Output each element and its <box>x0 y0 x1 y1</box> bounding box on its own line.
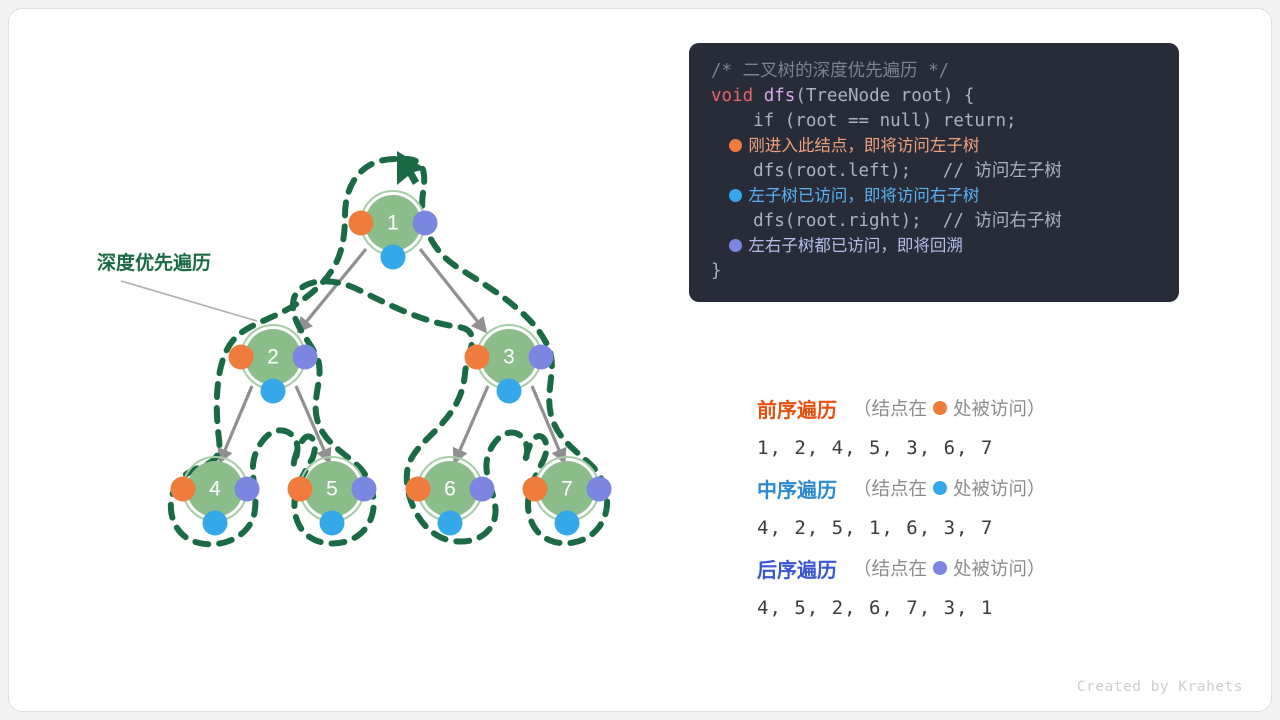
code-annotation-postorder: 左右子树都已访问，即将回溯 <box>711 234 1157 259</box>
inorder-desc-prefix: （结点在 <box>853 475 927 501</box>
tree-nodes: 1 2 3 <box>171 191 612 536</box>
code-annotation-inorder-text: 左子树已访问，即将访问右子树 <box>748 187 979 205</box>
inorder-label: 中序遍历 <box>757 474 837 503</box>
postorder-heading: 后序遍历 （结点在 处被访问） <box>757 551 1177 585</box>
inorder-sequence: 4, 2, 5, 1, 6, 3, 7 <box>757 505 1177 551</box>
code-block: /* 二叉树的深度优先遍历 */ void dfs(TreeNode root)… <box>689 43 1179 302</box>
credit-footer: Created by Krahets <box>1077 679 1243 695</box>
inorder-dot <box>203 511 228 536</box>
inorder-dot <box>497 379 522 404</box>
postorder-dot <box>352 477 377 502</box>
inorder-heading: 中序遍历 （结点在 处被访问） <box>757 471 1177 505</box>
preorder-dot-icon <box>933 401 947 415</box>
traversal-legend: 前序遍历 （结点在 处被访问） 1, 2, 4, 5, 3, 6, 7 中序遍历… <box>757 391 1177 631</box>
postorder-dot-icon <box>933 561 947 575</box>
node-label: 3 <box>503 346 515 369</box>
inorder-desc-suffix: 处被访问） <box>953 475 1046 501</box>
postorder-dot <box>587 477 612 502</box>
preorder-sequence: 1, 2, 4, 5, 3, 6, 7 <box>757 425 1177 471</box>
preorder-dot <box>288 477 313 502</box>
edge-2-5 <box>296 386 327 457</box>
postorder-dot <box>529 345 554 370</box>
inorder-dot-icon <box>933 481 947 495</box>
postorder-dot <box>235 477 260 502</box>
node-label: 4 <box>209 478 221 501</box>
annotation-leader-line <box>121 281 257 321</box>
edge-2-4 <box>222 386 252 457</box>
postorder-description: （结点在 处被访问） <box>853 555 1046 581</box>
inorder-dot <box>261 379 286 404</box>
preorder-dot <box>523 477 548 502</box>
postorder-desc-suffix: 处被访问） <box>953 555 1046 581</box>
tree-node-4[interactable]: 4 <box>171 457 260 536</box>
preorder-dot <box>229 345 254 370</box>
preorder-heading: 前序遍历 （结点在 处被访问） <box>757 391 1177 425</box>
postorder-dot-icon <box>729 239 742 252</box>
preorder-desc-prefix: （结点在 <box>853 395 927 421</box>
code-signature-rest: (TreeNode root) { <box>795 86 974 106</box>
figure-card: 1 2 3 <box>8 8 1272 712</box>
postorder-desc-prefix: （结点在 <box>853 555 927 581</box>
code-keyword-void: void <box>711 86 753 106</box>
inorder-dot <box>555 511 580 536</box>
inorder-dot <box>438 511 463 536</box>
postorder-dot <box>293 345 318 370</box>
preorder-label: 前序遍历 <box>757 394 837 423</box>
code-comment: /* 二叉树的深度优先遍历 */ <box>711 61 949 81</box>
preorder-desc-suffix: 处被访问） <box>953 395 1046 421</box>
node-label: 7 <box>561 478 573 501</box>
code-annotation-preorder: 刚进入此结点，即将访问左子树 <box>711 134 1157 159</box>
inorder-dot <box>381 245 406 270</box>
code-dfs-right: dfs(root.right); // 访问右子树 <box>711 211 1062 231</box>
preorder-dot <box>349 211 374 236</box>
node-label: 2 <box>267 346 279 369</box>
inorder-dot-icon <box>729 189 742 202</box>
postorder-dot <box>413 211 438 236</box>
postorder-label: 后序遍历 <box>757 554 837 583</box>
postorder-sequence: 4, 5, 2, 6, 7, 3, 1 <box>757 585 1177 631</box>
preorder-dot <box>171 477 196 502</box>
tree-node-6[interactable]: 6 <box>406 457 495 536</box>
code-fn-dfs: dfs <box>753 86 795 106</box>
preorder-description: （结点在 处被访问） <box>853 395 1046 421</box>
node-label: 6 <box>444 478 456 501</box>
code-annotation-inorder: 左子树已访问，即将访问右子树 <box>711 184 1157 209</box>
preorder-dot <box>406 477 431 502</box>
code-close-brace: } <box>711 261 722 281</box>
inorder-description: （结点在 处被访问） <box>853 475 1046 501</box>
preorder-dot-icon <box>729 139 742 152</box>
code-annotation-preorder-text: 刚进入此结点，即将访问左子树 <box>748 137 979 155</box>
preorder-dot <box>465 345 490 370</box>
postorder-dot <box>470 477 495 502</box>
node-label: 5 <box>326 478 338 501</box>
code-annotation-postorder-text: 左右子树都已访问，即将回溯 <box>748 237 963 255</box>
dfs-annotation-label: 深度优先遍历 <box>97 251 211 274</box>
binary-tree-diagram: 1 2 3 <box>9 9 689 712</box>
inorder-dot <box>320 511 345 536</box>
code-dfs-left: dfs(root.left); // 访问左子树 <box>711 161 1062 181</box>
node-label: 1 <box>387 212 399 235</box>
code-null-check: if (root == null) return; <box>711 111 1017 131</box>
